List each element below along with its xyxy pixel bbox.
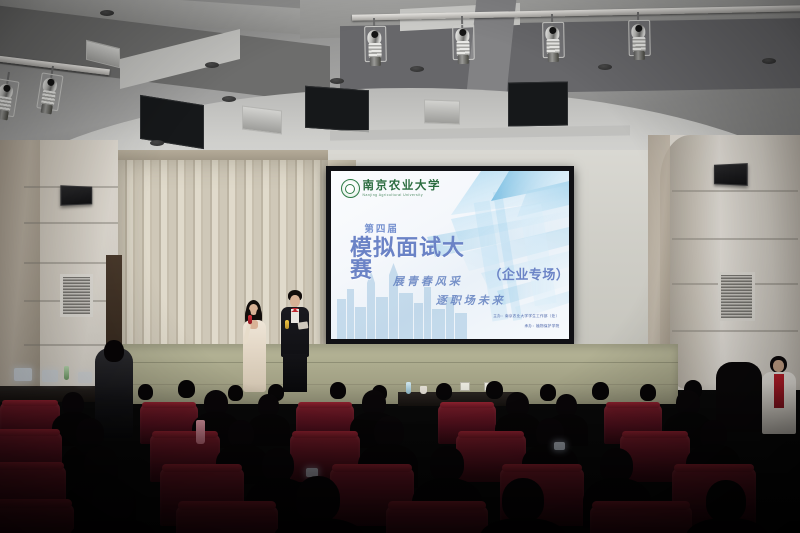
slide-organizer: 主办：南京农业大学学生工作部（处） [493,314,559,319]
slide-edition-prefix: 第四届 [364,221,399,235]
acoustic-panel [508,81,568,126]
red-microphone [248,315,252,324]
recessed-downlight [100,10,114,16]
wall-vent-grille-left [60,274,93,317]
water-bottle [64,366,69,380]
slide-university-logo: 南京农业大学 Nanjing Agricultural University [341,179,442,198]
laptop-screen-glow [14,368,32,381]
ceiling-vent [424,99,460,124]
projection-screen-frame: 南京农业大学 Nanjing Agricultural University 第… [326,166,574,344]
recessed-downlight [150,140,164,146]
university-name-cn: 南京农业大学 [363,181,442,193]
gold-microphone [285,320,289,329]
acoustic-panel [305,86,369,132]
slide-calligraphy-line-2: 逐职场未来 [436,292,506,308]
slide-calligraphy-line-1: 展青春风采 [393,273,463,289]
laptop-screen-glow [42,370,58,382]
slide-co-organizer: 承办：植物保护学院 [524,324,559,329]
university-seal-icon [341,179,360,198]
laptop-screen-glow [78,372,92,383]
ceiling-vent [242,106,282,135]
stage-spotlight [0,70,20,73]
standing-person-left-head [104,340,124,362]
foreground-shadow [0,383,800,533]
recessed-downlight [330,78,344,84]
female-host [238,300,272,392]
recessed-downlight [598,64,612,70]
auditorium-photo: 南京农业大学 Nanjing Agricultural University 第… [0,0,800,533]
left-stone-column [0,140,40,390]
wall-vent-grille-right [718,272,755,321]
wall-speaker-left [60,185,92,206]
slide-title-paren: （企业专场） [488,268,569,281]
male-host-head [290,295,300,307]
projection-screen: 南京农业大学 Nanjing Agricultural University 第… [331,171,569,339]
recessed-downlight [410,66,424,72]
wall-speaker-right [714,163,748,186]
university-name-en: Nanjing Agricultural University [363,194,442,197]
male-host [278,290,314,392]
recessed-downlight [205,62,219,68]
recessed-downlight [222,96,236,102]
recessed-downlight [762,58,776,64]
